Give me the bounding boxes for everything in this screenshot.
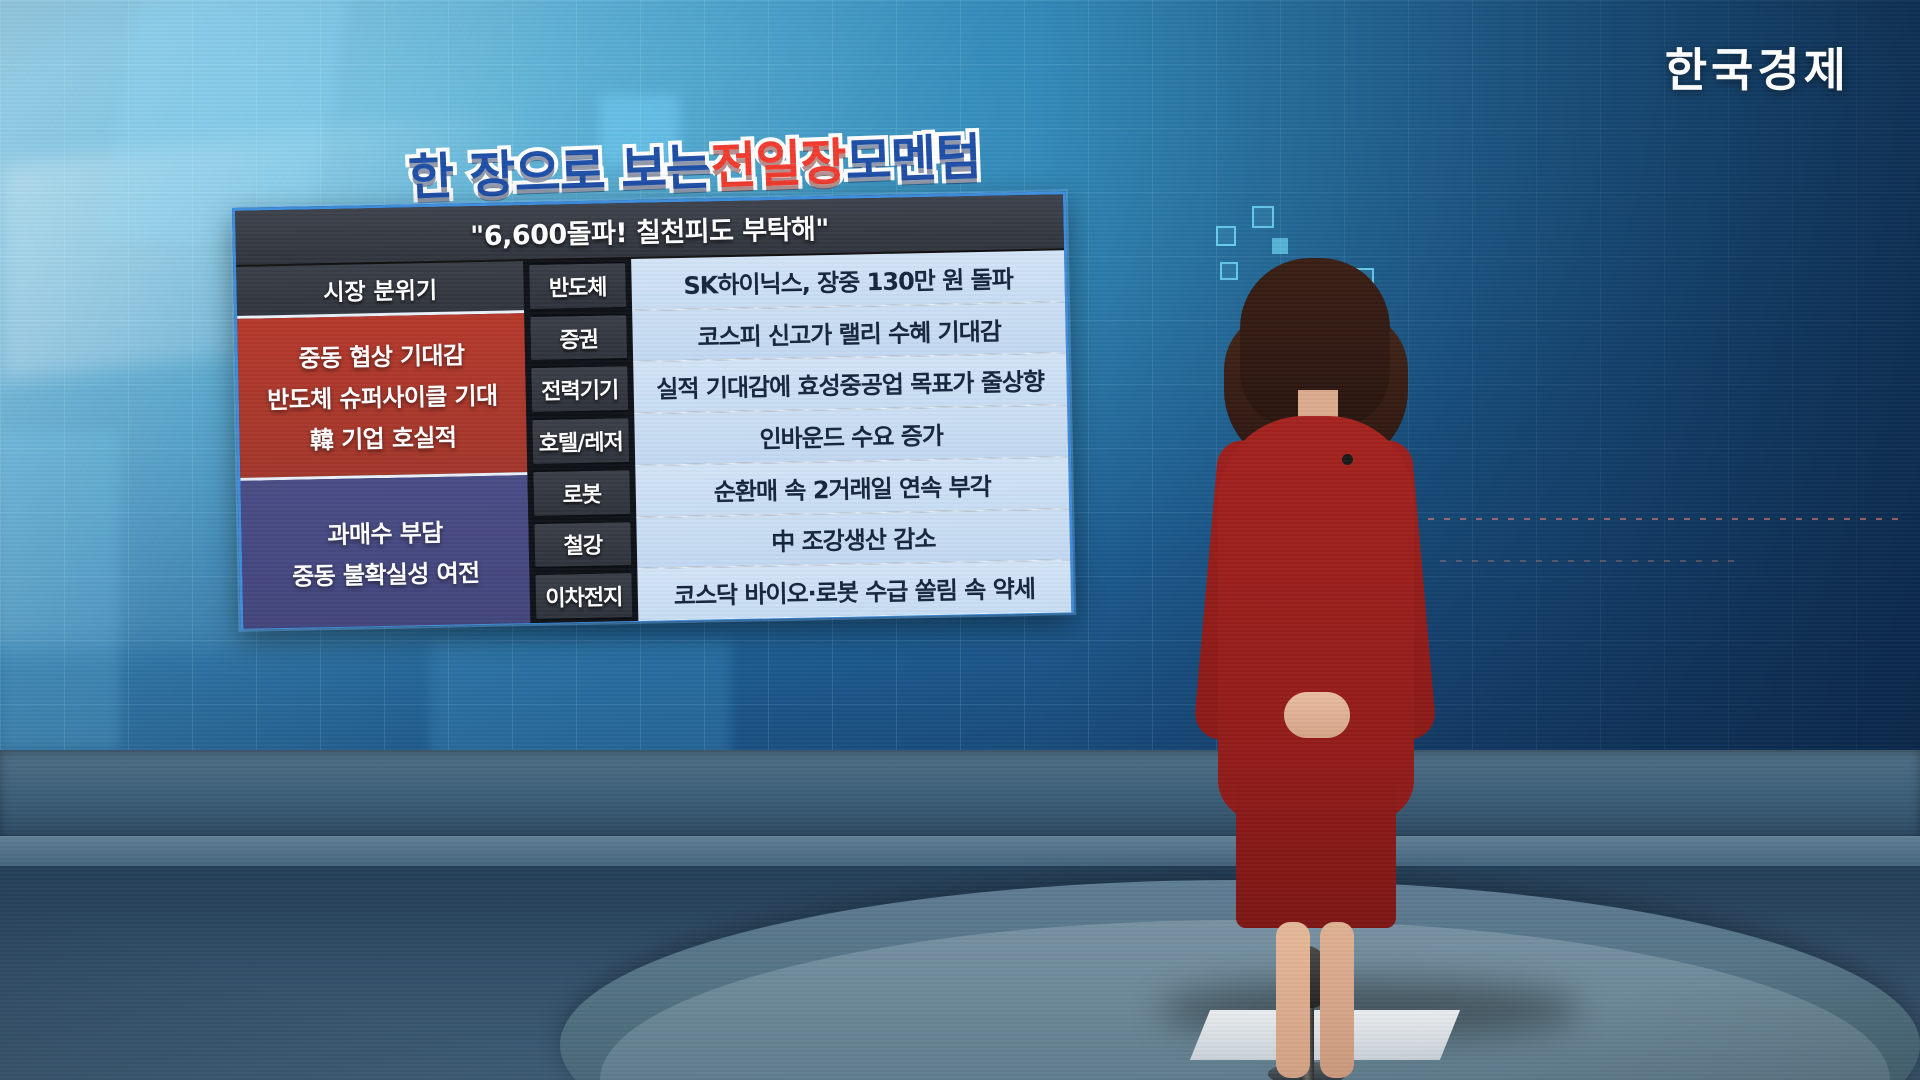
positive-drivers-line: 중동 협상 기대감: [298, 335, 465, 373]
positive-drivers-block: 중동 협상 기대감반도체 슈퍼사이클 기대韓 기업 호실적: [237, 313, 527, 481]
sector-cell: 전력기기: [531, 365, 628, 415]
sector-cell: 증권: [530, 313, 627, 363]
market-mood-block: 시장 분위기: [236, 261, 524, 319]
fact-text: 코스닥 바이오·로봇 수급 쏠림 속 약세: [673, 569, 1035, 611]
sector-cell: 반도체: [529, 261, 626, 311]
fact-text: 순환매 속 2거래일 연속 부각: [713, 467, 991, 508]
deco-square-2: [1252, 206, 1274, 228]
panel-grid: 시장 분위기중동 협상 기대감반도체 슈퍼사이클 기대韓 기업 호실적과매수 부…: [236, 250, 1071, 629]
sector-column: 반도체증권전력기기호텔/레저로봇철강이차전지: [523, 259, 638, 623]
sector-label: 반도체: [548, 269, 606, 302]
anchor-hands: [1284, 692, 1350, 738]
sector-label: 철강: [563, 528, 602, 561]
broadcast-frame: 한국경제 한 장으로 보는 전일장 모멘텀 "6,600돌파! 칠천피도 부탁해…: [0, 0, 1920, 1080]
fact-cell: 인바운드 수요 증가: [634, 405, 1068, 465]
deco-dotted-line-1: [1380, 518, 1900, 520]
positive-drivers-line: 반도체 슈퍼사이클 기대: [267, 376, 498, 416]
sector-label: 이차전지: [545, 579, 623, 613]
fact-cell: 실적 기대감에 효성중공업 목표가 줄상향: [633, 354, 1067, 414]
fact-cell: 코스닥 바이오·로봇 수급 쏠림 속 약세: [637, 561, 1071, 621]
anchor-leg-left: [1276, 922, 1310, 1078]
sector-label: 전력기기: [541, 373, 619, 407]
fact-text: 실적 기대감에 효성중공업 목표가 줄상향: [656, 362, 1044, 405]
anchor-skirt: [1236, 780, 1396, 928]
floor-front-band: [0, 750, 1920, 836]
floor-front-band-highlight: [0, 836, 1920, 866]
sector-label: 증권: [559, 321, 598, 354]
sector-cell: 철강: [534, 520, 631, 570]
studio-floor: [0, 750, 1920, 1080]
fact-text: SK하이닉스, 장중 130만 원 돌파: [683, 259, 1013, 301]
fact-text: 코스피 신고가 랠리 수혜 기대감: [697, 311, 1001, 352]
fact-text: 中 조강생산 감소: [771, 519, 936, 557]
fact-cell: 코스피 신고가 랠리 수혜 기대감: [632, 302, 1066, 362]
drivers-column: 시장 분위기중동 협상 기대감반도체 슈퍼사이클 기대韓 기업 호실적과매수 부…: [236, 261, 530, 629]
negative-drivers-line: 중동 불확실성 여전: [292, 553, 480, 592]
momentum-table-panel: "6,600돌파! 칠천피도 부탁해" 시장 분위기중동 협상 기대감반도체 슈…: [232, 191, 1074, 630]
panel-header-title: "6,600돌파! 칠천피도 부탁해": [470, 207, 829, 253]
sector-cell: 이차전지: [535, 571, 632, 621]
sector-cell: 호텔/레저: [532, 416, 629, 466]
lapel-mic-icon: [1342, 454, 1353, 465]
headline-part-3: 모멘텀: [844, 117, 982, 194]
headline-part-1: 한 장으로 보는: [407, 127, 712, 210]
positive-drivers-line: 韓 기업 호실적: [310, 418, 457, 456]
deco-dotted-line-2: [1440, 560, 1740, 562]
negative-drivers-line: 과매수 부담: [327, 513, 443, 550]
anchor-dress: [1218, 416, 1414, 820]
fact-cell: 中 조강생산 감소: [636, 509, 1070, 569]
headline-part-2: 전일장: [709, 122, 847, 199]
anchor-leg-right: [1320, 922, 1354, 1078]
news-anchor: [1180, 240, 1440, 1080]
sector-label: 로봇: [562, 476, 601, 509]
fact-text: 인바운드 수요 증가: [759, 416, 943, 455]
market-mood-line: 시장 분위기: [323, 270, 437, 306]
fact-cell: 순환매 속 2거래일 연속 부각: [635, 457, 1069, 517]
fact-cell: SK하이닉스, 장중 130만 원 돌파: [631, 250, 1065, 310]
channel-logo: 한국경제: [1665, 34, 1850, 100]
fact-column: SK하이닉스, 장중 130만 원 돌파코스피 신고가 랠리 수혜 기대감실적 …: [631, 250, 1071, 621]
sector-label: 호텔/레저: [538, 424, 623, 458]
sector-cell: 로봇: [533, 468, 630, 518]
negative-drivers-block: 과매수 부담중동 불확실성 여전: [240, 475, 530, 629]
